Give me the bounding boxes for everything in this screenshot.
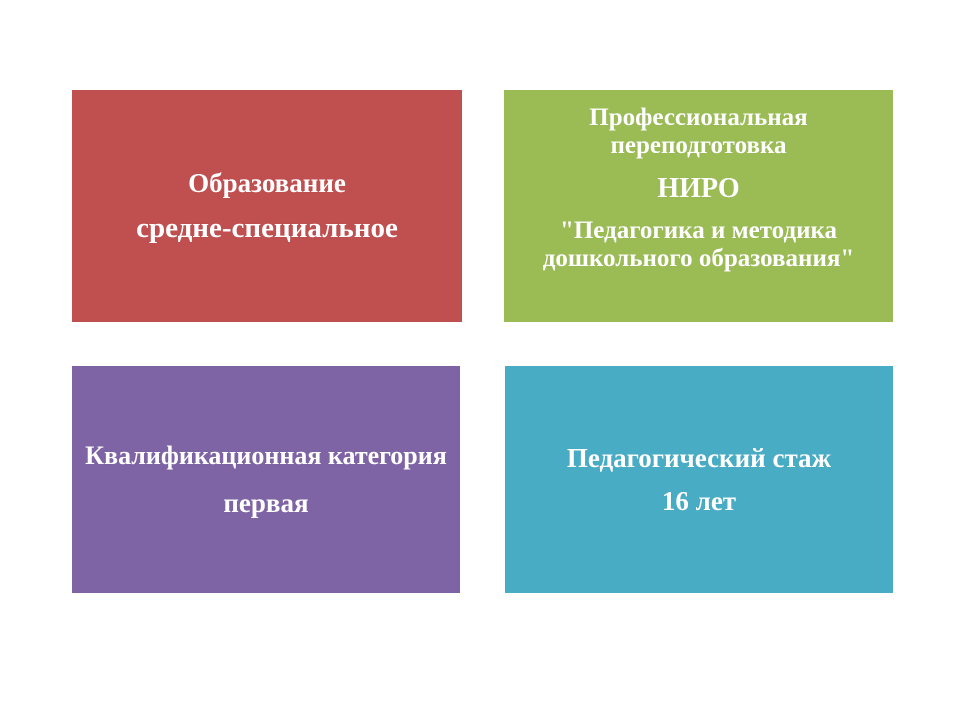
qualification-category-card: Квалификационная категория первая [72, 366, 460, 593]
retraining-institution: НИРО [514, 173, 883, 204]
retraining-program: "Педагогика и методика дошкольного образ… [514, 217, 883, 274]
education-card: Образование средне-специальное [72, 90, 462, 322]
education-heading: Образование [82, 168, 452, 198]
category-heading: Квалификационная категория [82, 441, 450, 470]
education-value: средне-специальное [82, 212, 452, 244]
experience-heading: Педагогический стаж [515, 443, 883, 473]
slide-canvas: Образование средне-специальное Профессио… [0, 0, 960, 720]
teaching-experience-card: Педагогический стаж 16 лет [505, 366, 893, 593]
professional-retraining-card: Профессиональная переподготовка НИРО "Пе… [504, 90, 893, 322]
experience-value: 16 лет [515, 486, 883, 516]
category-value: первая [82, 488, 450, 518]
retraining-heading: Профессиональная переподготовка [514, 104, 883, 161]
